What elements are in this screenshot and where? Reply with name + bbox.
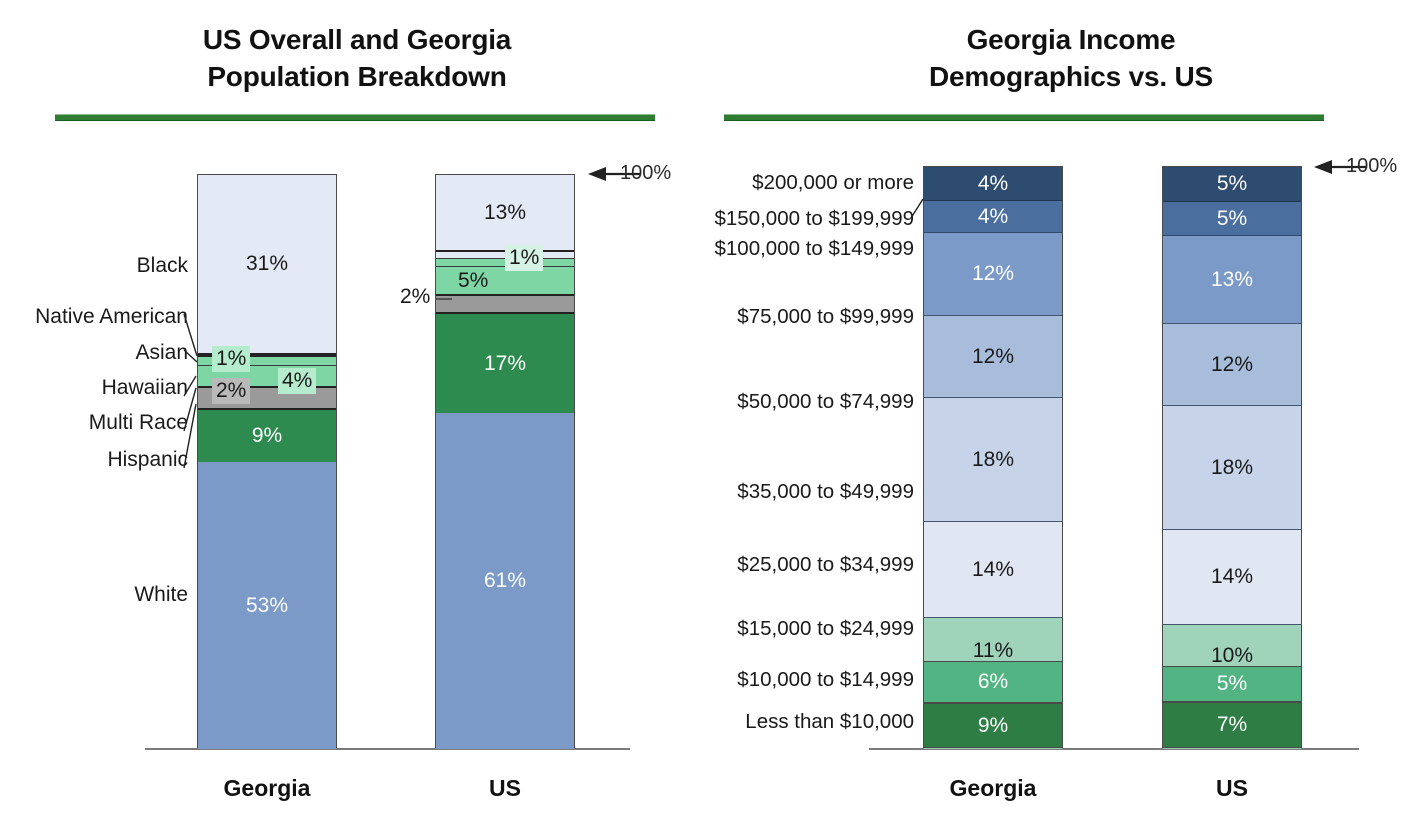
race-title-line2: Population Breakdown xyxy=(0,59,714,96)
race-segment-white-georgia[interactable]: 53% xyxy=(198,462,336,749)
income-title-line1: Georgia Income xyxy=(714,22,1428,59)
race-leader-lines xyxy=(0,0,714,819)
income-title-underline xyxy=(724,114,1324,121)
race-segment-hawaiian-us[interactable]: 5% xyxy=(436,267,574,296)
race-segment-black-us[interactable]: 13% xyxy=(436,175,574,250)
income-segment-35k-georgia[interactable]: 14% xyxy=(924,522,1062,618)
income-segment-10k-us[interactable]: 5% xyxy=(1163,667,1301,701)
income-segment-75k-georgia[interactable]: 12% xyxy=(924,316,1062,398)
income-bracket-label-150k: $150,000 to $199,999 xyxy=(715,207,915,231)
race-callout-asian-georgia: 1% xyxy=(212,346,250,372)
race-callout-hawaiian-georgia: 2% xyxy=(212,378,250,404)
race-category-label-black: Black xyxy=(137,254,188,278)
income-bracket-label-75k: $75,000 to $99,999 xyxy=(737,305,914,329)
income-segment-50k-georgia[interactable]: 18% xyxy=(924,398,1062,522)
race-segment-multirace-us[interactable] xyxy=(436,296,574,314)
race-callout-multirace-us: 2% xyxy=(400,285,430,309)
race-segment-black-georgia[interactable]: 31% xyxy=(198,175,336,353)
income-segment-10k-us-box[interactable]: 5% xyxy=(1162,666,1302,702)
race-category-label-hispanic: Hispanic xyxy=(107,448,188,472)
race-bar-georgia[interactable]: 31% 9% 53% xyxy=(197,174,337,748)
income-bracket-label-35k: $35,000 to $49,999 xyxy=(737,480,914,504)
income-xaxis-label-georgia: Georgia xyxy=(923,775,1063,802)
income-segment-50k-us[interactable]: 18% xyxy=(1163,406,1301,530)
income-xaxis-label-us: US xyxy=(1162,775,1302,802)
race-callout-multirace-georgia: 4% xyxy=(278,368,316,394)
race-segment-white-us[interactable]: 61% xyxy=(436,413,574,749)
income-segment-150k-us[interactable]: 5% xyxy=(1163,202,1301,236)
race-title-line1: US Overall and Georgia xyxy=(0,22,714,59)
income-bracket-label-200k: $200,000 or more xyxy=(752,171,914,195)
income-segment-200k-us[interactable]: 5% xyxy=(1163,167,1301,202)
income-bracket-label-25k: $25,000 to $34,999 xyxy=(737,553,914,577)
race-xaxis-label-georgia: Georgia xyxy=(197,775,337,802)
income-segment-lt10k-georgia[interactable]: 9% xyxy=(924,704,1062,747)
race-category-label-white: White xyxy=(134,583,188,607)
race-segment-hispanic-us[interactable]: 17% xyxy=(436,314,574,413)
race-callout-native-american-us: 1% xyxy=(505,245,543,271)
income-bracket-label-100k: $100,000 to $149,999 xyxy=(715,237,915,261)
race-segment-hispanic-georgia[interactable]: 9% xyxy=(198,410,336,462)
race-chart-panel: US Overall and Georgia Population Breakd… xyxy=(0,0,714,819)
race-hundred-percent-marker: 100% xyxy=(620,162,671,185)
race-category-label-hawaiian: Hawaiian xyxy=(102,376,188,400)
race-category-label-multi-race: Multi Race xyxy=(89,411,188,435)
race-chart-title: US Overall and Georgia Population Breakd… xyxy=(0,22,714,96)
race-category-label-asian: Asian xyxy=(135,341,188,365)
income-segment-150k-georgia[interactable]: 4% xyxy=(924,201,1062,233)
income-bracket-label-50k: $50,000 to $74,999 xyxy=(737,390,914,414)
income-hundred-percent-marker: 100% xyxy=(1346,155,1397,178)
income-segment-75k-us[interactable]: 12% xyxy=(1163,324,1301,406)
income-segment-lt10k-us-box[interactable]: 7% xyxy=(1162,702,1302,748)
income-bracket-label-lt10k: Less than $10,000 xyxy=(745,710,914,734)
income-chart-title: Georgia Income Demographics vs. US xyxy=(714,22,1428,96)
income-segment-100k-georgia[interactable]: 12% xyxy=(924,233,1062,316)
income-title-line2: Demographics vs. US xyxy=(714,59,1428,96)
income-bracket-label-10k: $10,000 to $14,999 xyxy=(737,668,914,692)
income-segment-100k-us[interactable]: 13% xyxy=(1163,236,1301,324)
income-segment-lt10k-us[interactable]: 7% xyxy=(1163,703,1301,747)
income-bracket-label-15k: $15,000 to $24,999 xyxy=(737,617,914,641)
income-segment-35k-us[interactable]: 14% xyxy=(1163,530,1301,625)
income-segment-10k-georgia-box[interactable]: 6% xyxy=(923,661,1063,703)
income-bar-us[interactable]: 5% 5% 13% 12% 18% 14% 10% 11% xyxy=(1162,166,1302,748)
income-segment-10k-georgia[interactable]: 6% xyxy=(924,662,1062,702)
income-chart-panel: Georgia Income Demographics vs. US 4% 4%… xyxy=(714,0,1428,819)
race-xaxis-label-us: US xyxy=(435,775,575,802)
race-title-underline xyxy=(55,114,655,121)
race-category-label-native-american: Native American xyxy=(35,305,188,329)
income-segment-200k-georgia[interactable]: 4% xyxy=(924,167,1062,201)
income-segment-lt10k-georgia-box[interactable]: 9% xyxy=(923,703,1063,748)
